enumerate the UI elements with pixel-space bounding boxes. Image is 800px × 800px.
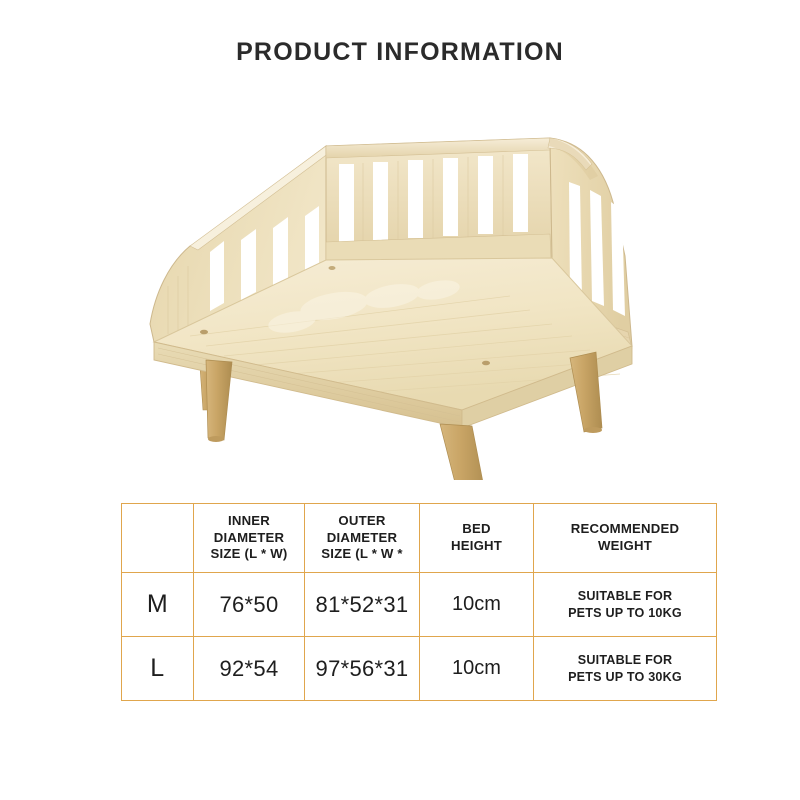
header-size [122,504,194,573]
header-recommended-weight: RECOMMENDED WEIGHT [534,504,717,573]
screw-hole [329,266,336,270]
screw-hole [482,361,490,366]
page-title: PRODUCT INFORMATION [0,38,800,67]
table-header-row: INNER DIAMETER SIZE (L * W) OUTER DIAMET… [122,504,717,573]
header-bed-height: BED HEIGHT [420,504,534,573]
back-panel [326,138,552,262]
screw-hole [200,330,208,335]
pet-bed-illustration [120,110,690,480]
cell-weight-m: SUITABLE FOR PETS UP TO 10KG [534,573,717,637]
cell-height-l: 10cm [420,637,534,701]
cell-outer-l: 97*56*31 [305,637,420,701]
table-row: L 92*54 97*56*31 10cm SUITABLE FOR PETS … [122,637,717,701]
cell-weight-l: SUITABLE FOR PETS UP TO 30KG [534,637,717,701]
spec-table: INNER DIAMETER SIZE (L * W) OUTER DIAMET… [121,503,717,701]
table-row: M 76*50 81*52*31 10cm SUITABLE FOR PETS … [122,573,717,637]
cell-outer-m: 81*52*31 [305,573,420,637]
header-inner-diameter: INNER DIAMETER SIZE (L * W) [194,504,305,573]
product-image-wooden-pet-bed [120,110,690,480]
cell-height-m: 10cm [420,573,534,637]
cell-size-l: L [122,637,194,701]
header-outer-diameter: OUTER DIAMETER SIZE (L * W * [305,504,420,573]
cell-inner-m: 76*50 [194,573,305,637]
cell-size-m: M [122,573,194,637]
cell-inner-l: 92*54 [194,637,305,701]
